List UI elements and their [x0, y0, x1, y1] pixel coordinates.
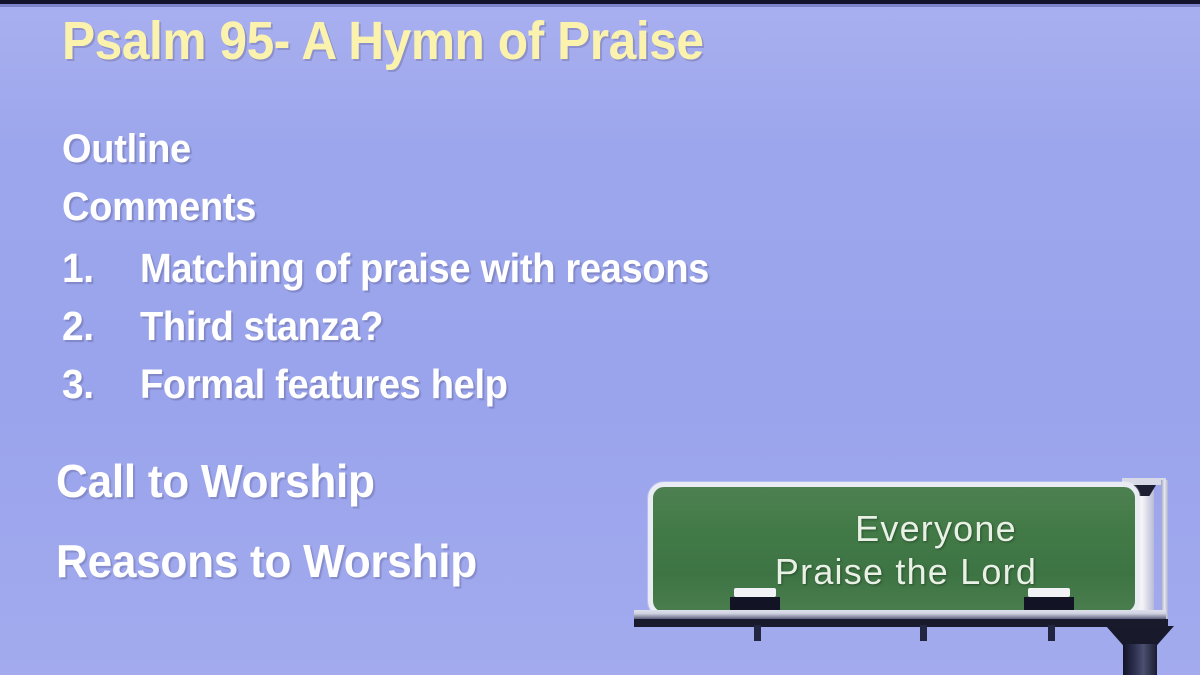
- heading-outline: Outline: [62, 127, 191, 171]
- comments-numbered-list: 1. Matching of praise with reasons 2. Th…: [62, 243, 752, 417]
- sign-mast-rail: [1161, 480, 1168, 626]
- heading-comments: Comments: [62, 185, 256, 229]
- sign-beam-bracket: [920, 625, 927, 641]
- list-item: 2. Third stanza?: [62, 301, 752, 359]
- slide-top-edge-rule: [0, 0, 1200, 4]
- slide-title: Psalm 95- A Hymn of Praise: [62, 9, 703, 73]
- slide-top-edge-highlight: [0, 4, 1200, 7]
- list-item-text: Formal features help: [140, 359, 508, 409]
- highway-sign-graphic: Everyone Praise the Lord: [630, 470, 1200, 675]
- list-item: 3. Formal features help: [62, 359, 752, 417]
- list-item-number: 2.: [62, 301, 136, 351]
- sign-beam-bracket: [754, 625, 761, 641]
- subheading-call-to-worship: Call to Worship: [56, 455, 375, 507]
- sign-text-line-2: Praise the Lord: [653, 552, 1140, 592]
- list-item-number: 3.: [62, 359, 136, 409]
- sign-post-flare: [1106, 626, 1174, 646]
- subheading-reasons-to-worship: Reasons to Worship: [56, 535, 477, 587]
- sign-beam-bracket: [1048, 625, 1055, 641]
- list-item-text: Third stanza?: [140, 301, 383, 351]
- list-item: 1. Matching of praise with reasons: [62, 243, 752, 301]
- sign-support-post: [1123, 644, 1157, 675]
- sign-support-beam-shadow: [634, 619, 1168, 627]
- list-item-number: 1.: [62, 243, 136, 293]
- list-item-text: Matching of praise with reasons: [140, 243, 709, 293]
- sign-light-reflector: [734, 588, 776, 597]
- presentation-slide: Psalm 95- A Hymn of Praise Outline Comme…: [0, 0, 1200, 675]
- sign-support-beam: [634, 610, 1166, 619]
- sign-light-reflector: [1028, 588, 1070, 597]
- sign-text-line-1: Everyone: [653, 509, 1140, 549]
